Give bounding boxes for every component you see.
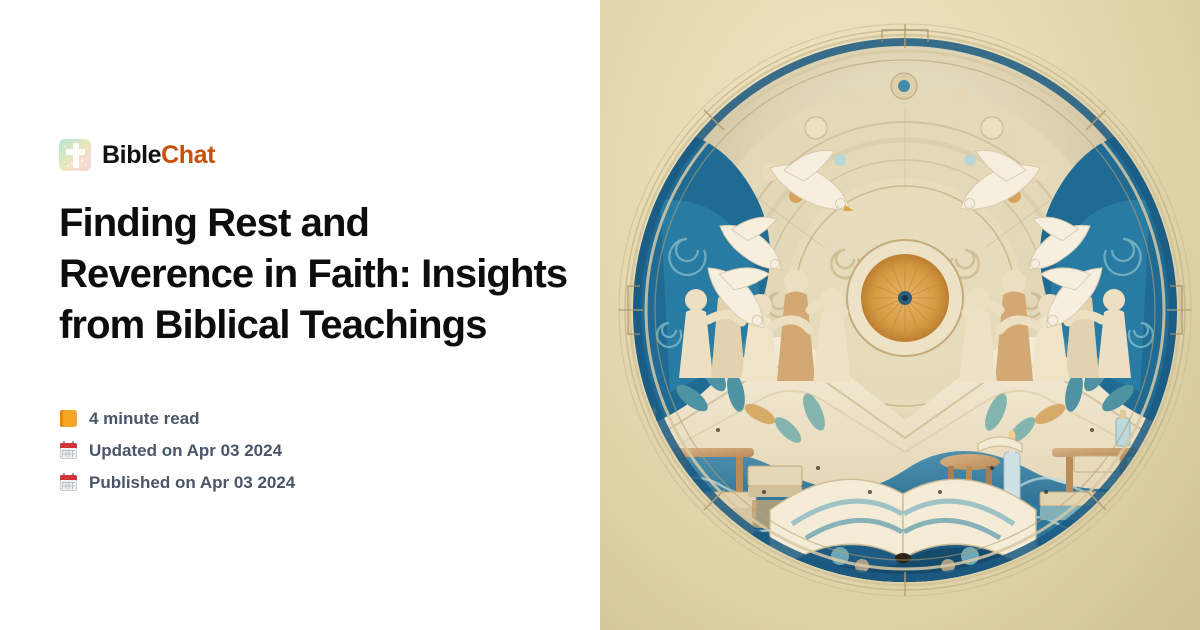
calendar-header-bar (60, 475, 77, 480)
brand-name-accent: Chat (161, 141, 215, 169)
metadata-row-updated: Updated on Apr 03 2024 (59, 440, 569, 462)
calendar-grid (62, 450, 75, 457)
brand-name: BibleChat (102, 143, 215, 168)
bible-cross-logo-icon (59, 139, 91, 171)
brand-header[interactable]: BibleChat (59, 138, 569, 172)
orange-book-icon (59, 409, 78, 428)
circular-biblical-mandala-illustration (600, 0, 1200, 630)
page-title: Finding Rest and Reverence in Faith: Ins… (59, 198, 569, 352)
sun-mandala-icon (847, 240, 963, 356)
cross-vertical-bar (73, 143, 79, 168)
article-hero-image-panel (600, 0, 1200, 630)
read-time-label: 4 minute read (89, 410, 200, 427)
logo-speck (81, 159, 83, 161)
cross-horizontal-bar (66, 149, 85, 155)
calendar-icon (59, 441, 78, 460)
brand-name-primary: Bible (102, 141, 161, 169)
logo-speck (85, 164, 87, 166)
content-block: BibleChat Finding Rest and Reverence in … (59, 138, 569, 494)
metadata-row-published: Published on Apr 03 2024 (59, 472, 569, 494)
logo-speck (67, 165, 69, 167)
calendar-header-bar (60, 443, 77, 448)
og-image-card: BibleChat Finding Rest and Reverence in … (0, 0, 1200, 630)
published-date-label: Published on Apr 03 2024 (89, 474, 295, 491)
calendar-icon (59, 473, 78, 492)
logo-speck (63, 161, 65, 163)
metadata-row-read-time: 4 minute read (59, 408, 569, 430)
book-spine (60, 410, 63, 427)
logo-speck (71, 163, 73, 165)
article-metadata-list: 4 minute read Updated on Apr 03 2024 (59, 408, 569, 494)
logo-speck (64, 145, 66, 147)
updated-date-label: Updated on Apr 03 2024 (89, 442, 282, 459)
article-text-panel: BibleChat Finding Rest and Reverence in … (0, 0, 600, 630)
calendar-grid (62, 482, 75, 489)
